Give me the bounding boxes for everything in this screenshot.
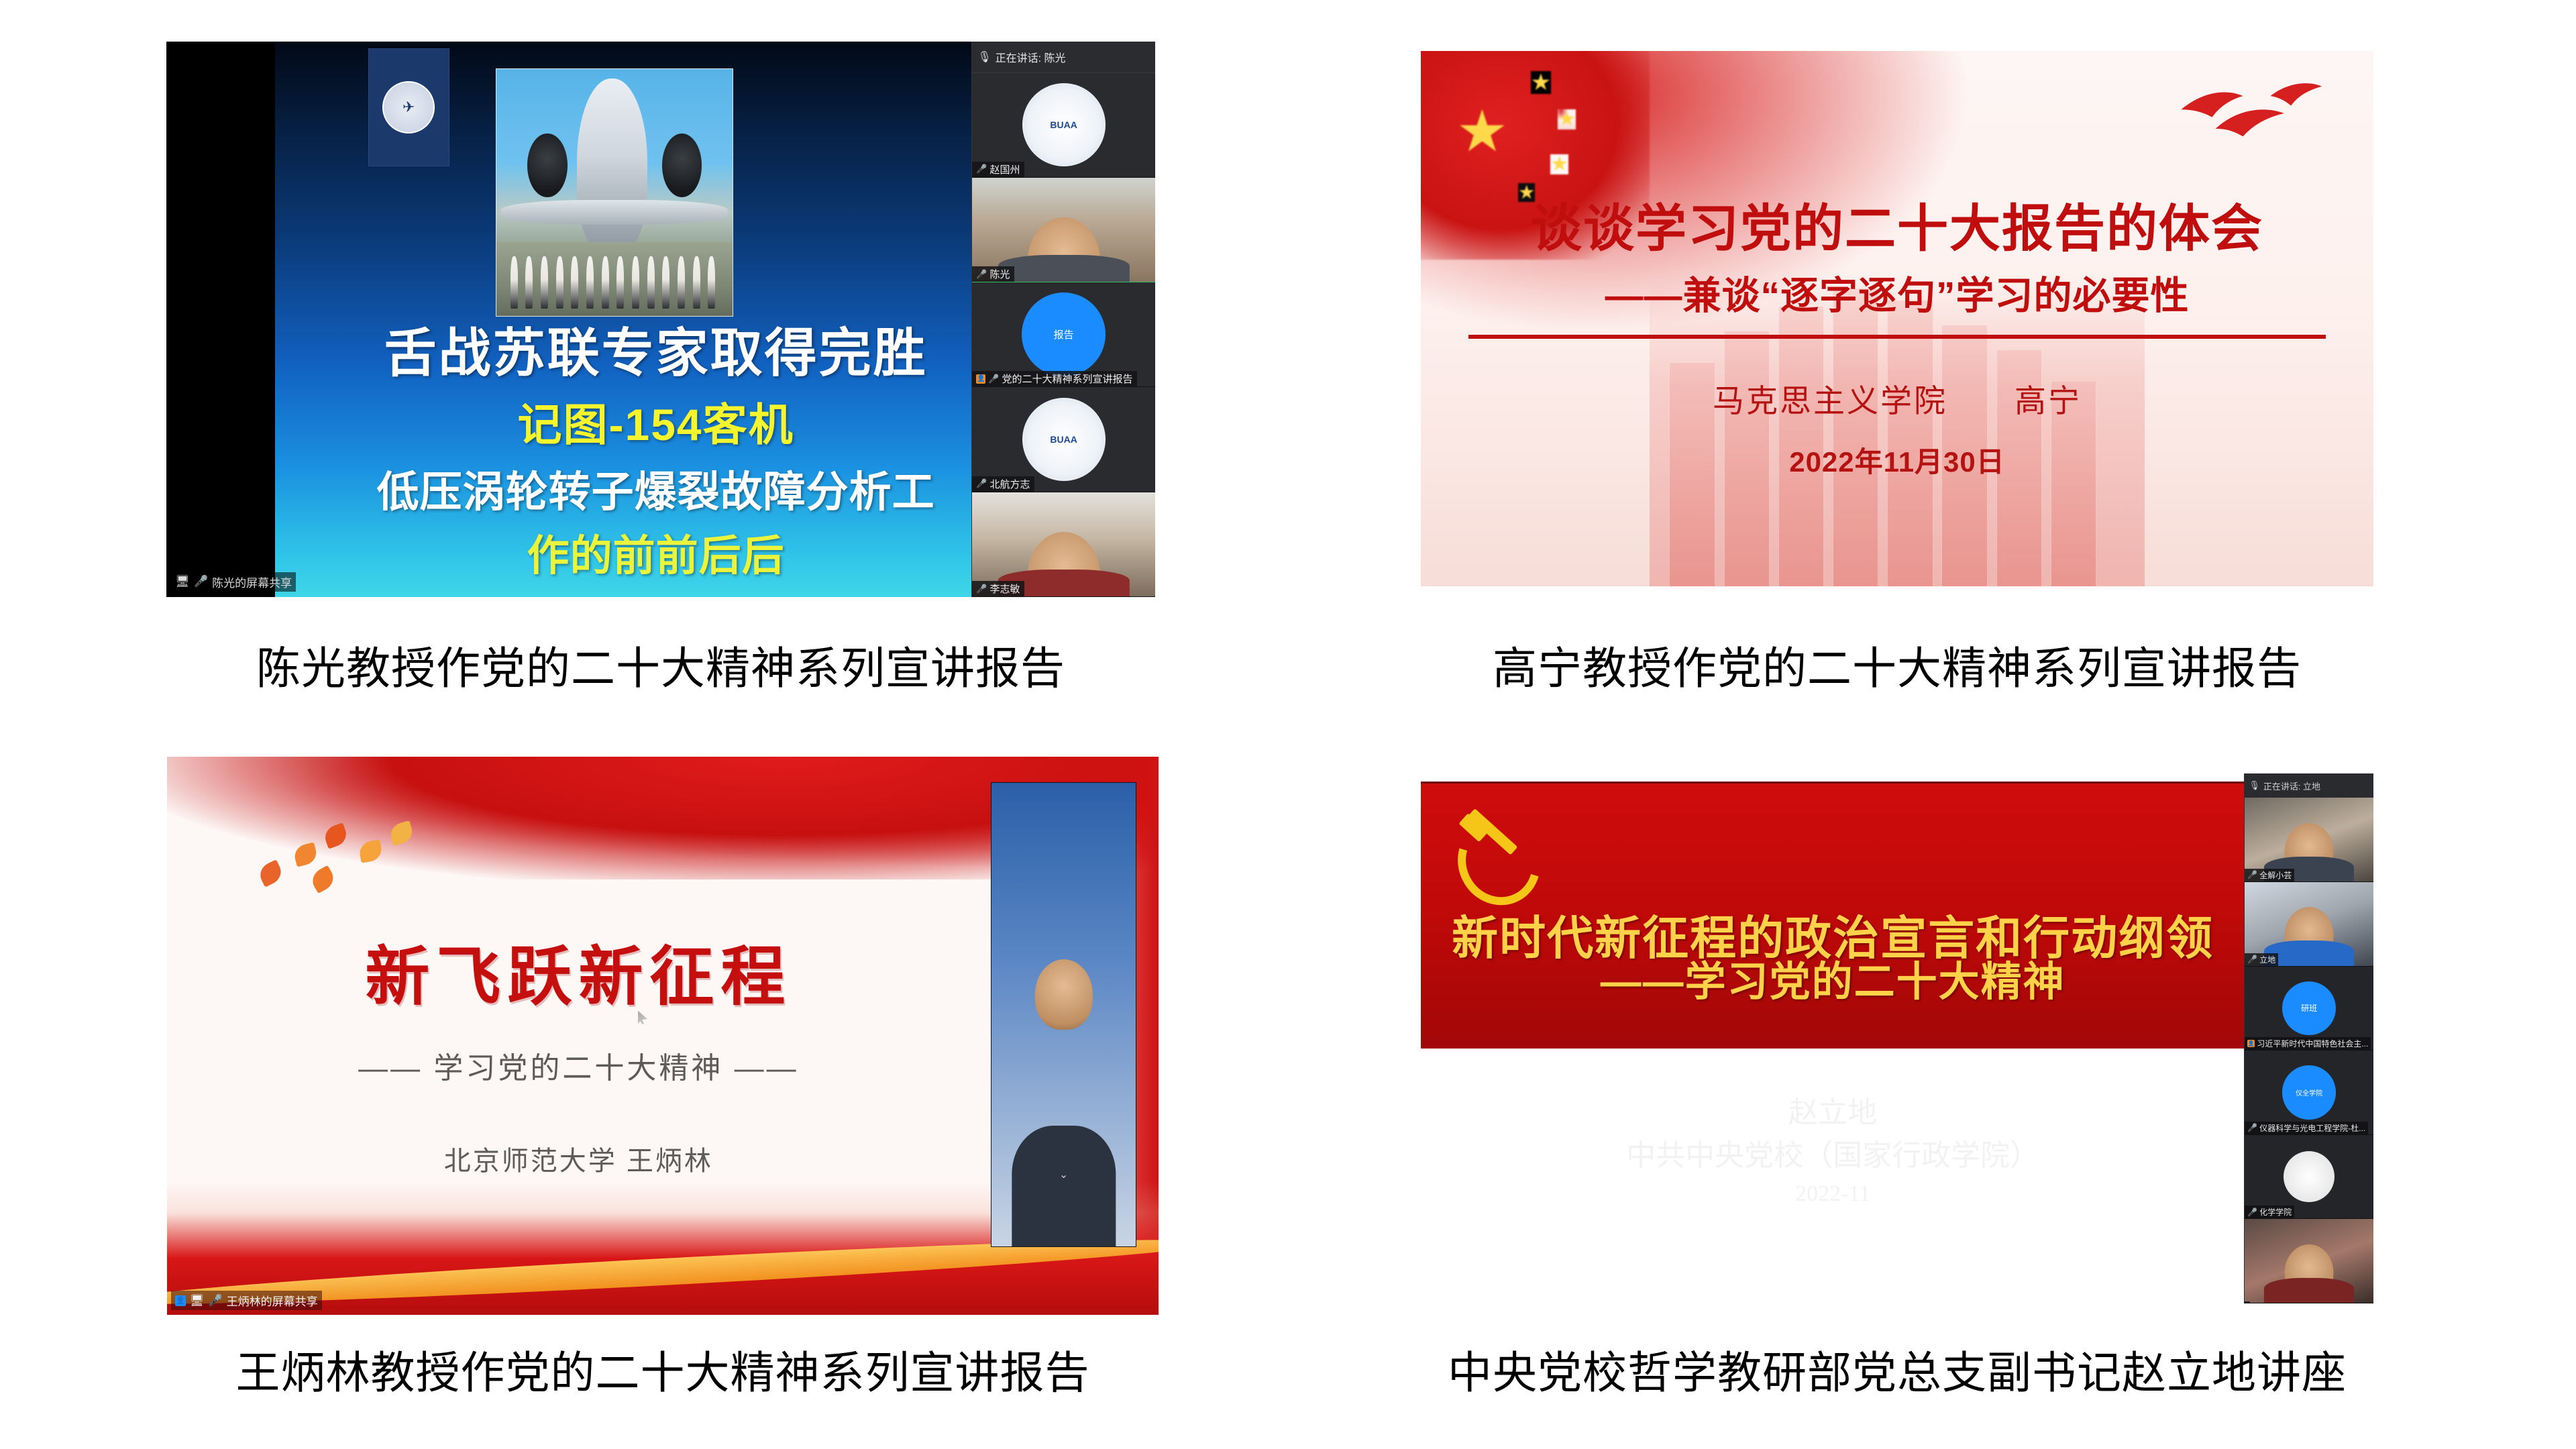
caption-gao-ning: 高宁教授作党的二十大精神系列宣讲报告: [1421, 644, 2373, 693]
slide-body-chen-guang: ✈ 舌战苏联专家取得完胜 记图-154客机 低压涡轮转子爆裂故障分析工: [275, 42, 1036, 597]
mic-muted-icon: 🎤: [976, 478, 987, 489]
participant-nametag: 🎤 赵国州: [972, 162, 1024, 177]
share-status-label: 陈光的屏幕共享: [212, 574, 292, 590]
banner-line2: ——学习党的二十大精神: [1446, 948, 2220, 1008]
mic-muted-icon: 🎤: [976, 584, 987, 594]
participant-tile[interactable]: 研班 👤 习近平新时代中国特色社会主...: [2245, 967, 2373, 1051]
wing-shape: [501, 200, 728, 225]
slide-date: 2022年11月30日: [1468, 439, 2326, 480]
participant-tile[interactable]: 🎤 全解小芸: [2245, 798, 2373, 882]
participant-nametag: 🎤 北航方志: [972, 476, 1034, 492]
white-circle-avatar: [2284, 1151, 2335, 1203]
rail-header: 🎙 正在讲话: 立地: [2245, 773, 2373, 798]
host-badge-icon: 👤: [2247, 1040, 2255, 1047]
participant-name: 李志敏: [990, 582, 1020, 596]
slide-subtitle: ——兼谈“逐字逐句”学习的必要性: [1468, 265, 2326, 320]
mic-muted-icon: 🎙: [2249, 780, 2260, 791]
participant-tile[interactable]: 🎤 陈光: [972, 178, 1155, 282]
participant-tile[interactable]: 👤 🎤 董卓宁: [991, 914, 1136, 930]
participant-tile[interactable]: [2245, 1219, 2373, 1303]
slide-subtitle: —— 学习党的二十大精神 ——: [197, 1044, 960, 1087]
participant-name: 全解小芸: [2259, 869, 2292, 881]
person-torso-shape: [2264, 1278, 2354, 1303]
slide-title-line2: 记图-154客机: [275, 389, 1036, 453]
participant-name: 立地: [2259, 954, 2275, 965]
participant-name: 仪器科学与光电工程学院-杜...: [2259, 1122, 2365, 1134]
screen-share-icon: 🖥: [175, 575, 190, 588]
participant-rail-zhao-lidi[interactable]: 🎙 正在讲话: 立地 🎤 全解小芸 🎤: [2244, 773, 2373, 1303]
flag-star-icon: ★: [1456, 103, 1508, 160]
participant-icon: 👤: [175, 1295, 186, 1306]
school-seal-avatar-icon: BUAA: [1022, 83, 1106, 166]
mic-muted-icon: 🎤: [2247, 870, 2257, 879]
caption-chen-guang: 陈光教授作党的二十大精神系列宣讲报告: [166, 644, 1155, 693]
flag-star-icon: ★: [1550, 154, 1568, 174]
building-watermark: [1650, 276, 2145, 586]
mic-muted-icon: 🎤: [988, 374, 999, 384]
slide-date: 2022-11: [1421, 1177, 2245, 1210]
screen-share-icon: 🖥: [190, 1294, 205, 1307]
participant-nametag: 🎤 仪器科学与光电工程学院-杜...: [2245, 1122, 2368, 1134]
mic-muted-icon: 🎤: [976, 164, 987, 174]
title-divider: [1468, 335, 2326, 339]
share-status-label: 王炳林的屏幕共享: [227, 1292, 318, 1309]
person-torso-shape: [1012, 1126, 1116, 1246]
speaking-label: 正在讲话: 陈光: [996, 49, 1066, 65]
photo-chen-guang: ✈ 舌战苏联专家取得完胜 记图-154客机 低压涡轮转子爆裂故障分析工: [166, 42, 1155, 597]
slide-title: 谈谈学习党的二十大报告的体会: [1468, 187, 2326, 261]
participant-name: 陈光: [990, 267, 1010, 281]
slide-title-line3: 低压涡轮转子爆裂故障分析工: [298, 458, 1014, 519]
participant-rail-wang-binglin[interactable]: 🎙 正在讲话: 郝天皖 ▲▲ 告会 👤 🎤 党的二十大精神系列宣讲报...: [991, 782, 1137, 1247]
screenshot-page: ✈ 舌战苏联专家取得完胜 记图-154客机 低压涡轮转子爆裂故障分析工: [0, 0, 2576, 1449]
blue-initial-avatar: 仪全学院: [2282, 1065, 2337, 1120]
participant-name: 赵国州: [990, 162, 1020, 176]
participant-tile[interactable]: 🎤 立地: [2245, 882, 2373, 967]
mic-on-icon: 🎤: [194, 575, 208, 588]
slide-title-line4: 作的前前后后: [275, 522, 1036, 583]
participant-nametag: 🎤 全解小芸: [2245, 869, 2294, 881]
slide-author: 赵立地: [1421, 1091, 2245, 1134]
participant-rail-chen-guang[interactable]: 🎙 正在讲话: 陈光 BUAA 🎤 赵国州 🎤 陈光: [971, 42, 1155, 597]
photo-zhao-lidi: 新时代新征程的政治宣言和行动纲领 ——学习党的二十大精神 赵立地 中共中央党校（…: [1421, 773, 2373, 1303]
participant-nametag: 👤 习近平新时代中国特色社会主...: [2245, 1037, 2371, 1050]
photo-wang-binglin: 新飞跃新征程 —— 学习党的二十大精神 —— 北京师范大学 王炳林 🎙 正在讲话…: [167, 757, 1159, 1315]
slide-title: 新飞跃新征程: [197, 924, 960, 1018]
birds-decoration: [246, 818, 464, 896]
mic-on-icon: 🎤: [2247, 955, 2257, 964]
webcam-video: [2245, 1219, 2373, 1303]
participant-tile[interactable]: 报告 👤 🎤 党的二十大精神系列宣讲报告: [972, 282, 1155, 387]
host-badge-icon: 👤: [976, 374, 985, 384]
red-banner: 新时代新征程的政治宣言和行动纲领 ——学习党的二十大精神: [1421, 782, 2245, 1049]
rail-header: 🎙 正在讲话: 陈光: [972, 42, 1155, 73]
university-logo: ✈: [368, 48, 449, 166]
engine-left-shape: [527, 133, 568, 198]
participant-tile[interactable]: BUAA 🎤 北航方志: [972, 387, 1155, 492]
participant-name: 北航方志: [990, 477, 1030, 491]
participant-tile[interactable]: BUAA 🎤 赵国州: [972, 73, 1155, 178]
photo-gao-ning: ★ ★ ★ ★ ★ 谈谈学习党的二十大报告的体会 ——兼谈“逐字逐句”学习的必要…: [1421, 51, 2373, 586]
flag-star-icon: ★: [1558, 109, 1576, 129]
mic-muted-icon: 🎤: [2247, 1123, 2257, 1132]
speaking-label: 正在讲话: 立地: [2263, 780, 2320, 792]
hammer-sickle-icon: [1447, 810, 1538, 900]
participant-nametag: [2245, 1301, 2250, 1303]
doves-icon: [2164, 67, 2336, 164]
chevron-down-icon[interactable]: ⌄: [1059, 1168, 1068, 1181]
slide-presenter: 北京师范大学 王炳林: [197, 1139, 960, 1178]
share-status-bar: 🖥 🎤 陈光的屏幕共享: [171, 572, 296, 592]
slide-author: 马克思主义学院 高宁: [1468, 375, 2326, 421]
participant-name: 党的二十大精神系列宣讲报告: [1002, 372, 1133, 386]
participant-nametag: 🎤 立地: [2245, 953, 2278, 966]
aircraft-photo: [496, 68, 733, 317]
blue-initial-avatar: 报告: [1022, 292, 1106, 376]
mic-on-icon: 🎤: [209, 1294, 223, 1307]
mic-muted-icon: 🎤: [2247, 1207, 2257, 1217]
fuselage-shape: [577, 78, 648, 252]
person-head-shape: [1034, 959, 1092, 1030]
university-seal-icon: ✈: [382, 81, 435, 133]
participant-nametag: 🎤 化学学院: [2245, 1205, 2294, 1218]
participant-nametag: 🎤 李志敏: [972, 581, 1024, 596]
flag-star-icon: ★: [1531, 71, 1551, 94]
participant-nametag: 👤 🎤 党的二十大精神系列宣讲报告: [972, 371, 1136, 386]
engine-right-shape: [662, 133, 702, 198]
caption-zhao-lidi: 中央党校哲学教研部党总支副书记赵立地讲座: [1421, 1348, 2373, 1397]
school-seal-avatar-icon: BUAA: [1022, 398, 1106, 481]
participant-nametag: 🎤 陈光: [972, 266, 1014, 282]
participant-name: 化学学院: [2259, 1206, 2292, 1218]
person-torso-shape: [998, 255, 1129, 282]
mic-muted-icon: 🎙: [977, 50, 991, 64]
slide-footer-block: 赵立地 中共中央党校（国家行政学院） 2022-11: [1421, 1091, 2245, 1210]
caption-wang-binglin: 王炳林教授作党的二十大精神系列宣讲报告: [167, 1348, 1159, 1397]
share-status-bar: 👤 🖥 🎤 王炳林的屏幕共享: [171, 1291, 322, 1310]
participant-tile[interactable]: 🎤 李志敏: [972, 492, 1155, 597]
crowd-shape: [506, 247, 723, 309]
slide-affiliation: 中共中央党校（国家行政学院）: [1421, 1134, 2245, 1177]
mic-on-icon: 🎤: [976, 269, 987, 280]
participant-tile[interactable]: 🎤 化学学院: [2245, 1135, 2373, 1220]
blue-initial-avatar: 研班: [2282, 981, 2337, 1036]
slide-title-line1: 舌战苏联专家取得完胜: [275, 311, 1036, 386]
participant-tile[interactable]: 仪全学院 🎤 仪器科学与光电工程学院-杜...: [2245, 1051, 2373, 1135]
participant-name: 习近平新时代中国特色社会主...: [2257, 1038, 2368, 1049]
